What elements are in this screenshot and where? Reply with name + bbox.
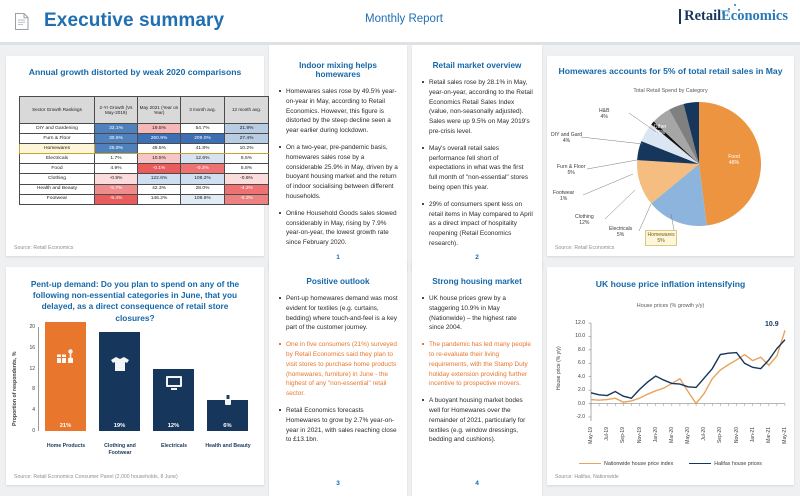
legend-entry: Halifax house prices [689, 461, 762, 467]
bar-y-axis-label: Proportion of respondents, % [12, 339, 18, 439]
line-y-tick: 0.0 [565, 401, 585, 407]
bar-column: 21%Home Products [45, 327, 86, 431]
bullet-item: 29% of consumers spent less on retail it… [421, 200, 533, 249]
line-chart-stage: House price (% y/y) -2.00.02.04.06.08.01… [547, 297, 794, 457]
pie-label-name: Clothing [575, 214, 594, 220]
line-x-tick: Jul-20 [701, 427, 707, 441]
bar-rect: 21% [45, 322, 86, 431]
home-products-icon [56, 349, 76, 372]
pie-label-value: 5% [567, 170, 574, 176]
bullet-item: May's overall retail sales performance f… [421, 144, 533, 193]
line-y-tick: 6.0 [565, 360, 585, 366]
bullet-item: One in five consumers (21%) surveyed by … [278, 340, 398, 399]
pie-chart-stage: Food48%Other16%Clothing12%Electricals5%H… [547, 90, 794, 240]
pie-slice-label: DIY and Gard4% [551, 132, 582, 145]
col-sector: Sector Growth Rankings [20, 97, 95, 124]
pie-label-value: 16% [655, 130, 665, 136]
pie-slice-label: Furn & Floor5% [557, 164, 585, 177]
bar-value-label: 21% [45, 423, 86, 429]
line-chart-title: UK house price inflation intensifying [547, 267, 794, 291]
cell-may: 49.5% [138, 144, 181, 154]
cell-three-month: 209.0% [181, 134, 225, 144]
bar-y-tick: 16 [29, 345, 35, 351]
cell-three-month: 54.7% [181, 124, 225, 134]
table-source: Source: Retail Economics [14, 245, 73, 251]
tshirt-icon [110, 355, 130, 378]
strong-housing-title: Strong housing market [421, 277, 533, 286]
line-source: Source: Halifax, Nationwide [555, 474, 619, 480]
bullet-item: Online Household Goods sales slowed cons… [278, 209, 398, 248]
pie-label-name: Furn & Floor [557, 164, 585, 170]
cell-two-year: 4.9% [95, 164, 138, 174]
bullet-item: On a two-year, pre-pandemic basis, homew… [278, 143, 398, 202]
pie-leader-line [581, 137, 643, 144]
row-sector-label: Homewares [20, 144, 95, 154]
cell-twelve-month: 6.5% [225, 154, 269, 164]
cell-two-year: 30.6% [95, 134, 138, 144]
bullet-item: Retail Economics forecasts Homewares to … [278, 406, 398, 445]
line-series [591, 340, 785, 398]
bar-y-tick: 4 [32, 407, 35, 413]
bar-y-ticks: 048121620 [23, 327, 37, 431]
col-3mo: 3 month avg. [181, 97, 225, 124]
bottle-icon [221, 388, 235, 411]
bar-category-label: Health and Beauty [200, 443, 256, 450]
pie-slice-label: Electricals5% [609, 226, 632, 239]
table-row: Homewares25.9%49.5%41.8%10.2% [20, 144, 269, 154]
bar-chart-title: Pent-up demand: Do you plan to spend on … [6, 267, 264, 324]
legend-label: Nationwide house price index [604, 461, 673, 467]
positive-outlook-bullets: Pent-up homewares demand was most eviden… [278, 294, 398, 445]
bar-column: 12%Electricals [153, 327, 194, 431]
bar-chart-card: Pent-up demand: Do you plan to spend on … [6, 267, 264, 485]
bullet-item: UK house prices grew by a staggering 10.… [421, 294, 533, 333]
table-row: Furn & Floor30.6%260.9%209.0%27.4% [20, 134, 269, 144]
pie-label-value: 1% [560, 196, 567, 202]
pie-leader-line [587, 160, 637, 169]
bullet-item: Pent-up homewares demand was most eviden… [278, 294, 398, 333]
pie-label-name: Homewares [648, 232, 675, 238]
pie-leader-line [639, 204, 651, 231]
retail-economics-logo: RetailEconomics [679, 8, 788, 24]
legend-label: Halifax house prices [714, 461, 762, 467]
cell-may: 122.6% [138, 174, 181, 184]
indoor-mixing-bullets: Homewares sales rose by 49.5% year-on-ye… [278, 87, 398, 248]
cell-twelve-month: -4.2% [225, 184, 269, 194]
cell-may: 260.9% [138, 134, 181, 144]
cell-two-year: -0.5% [95, 174, 138, 184]
line-series [591, 330, 785, 403]
page-number-4: 4 [412, 480, 542, 487]
row-sector-label: Clothing [20, 174, 95, 184]
cell-twelve-month: -5.3% [225, 194, 269, 204]
bar-value-label: 6% [207, 423, 248, 429]
line-x-tick: Jan-20 [653, 427, 659, 442]
cell-twelve-month: 5.8% [225, 164, 269, 174]
table-row: Food4.9%-0.1%-0.2%5.8% [20, 164, 269, 174]
sector-growth-table-wrap: Sector Growth Rankings 2-Yr Growth (Vs M… [19, 96, 253, 205]
pie-chart-card: Homewares accounts for 5% of total retai… [547, 56, 794, 256]
logo-dots [708, 4, 748, 16]
bar-source: Source: Retail Economics Consumer Panel … [14, 474, 178, 480]
row-sector-label: DIY and Gardening [20, 124, 95, 134]
cell-twelve-month: 10.2% [225, 144, 269, 154]
col-may: May 2021 (Year on Year) [138, 97, 181, 124]
pie-label-value: 12% [579, 220, 589, 226]
table-header-row: Sector Growth Rankings 2-Yr Growth (Vs M… [20, 97, 269, 124]
line-x-tick: Nov-19 [637, 427, 643, 443]
pie-label-value: 4% [601, 114, 608, 120]
cell-may: 19.5% [138, 124, 181, 134]
legend-swatch [689, 463, 711, 465]
line-x-tick: Mar-21 [766, 427, 772, 443]
pie-chart-title: Homewares accounts for 5% of total retai… [547, 56, 794, 78]
row-sector-label: Footwear [20, 194, 95, 204]
row-sector-label: Electricals [20, 154, 95, 164]
row-sector-label: Furn & Floor [20, 134, 95, 144]
cell-may: 42.3% [138, 184, 181, 194]
line-y-tick: -2.0 [565, 414, 585, 420]
retail-overview-title: Retail market overview [421, 61, 533, 70]
line-x-tick: Mar-20 [669, 427, 675, 443]
sector-growth-title: Annual growth distorted by weak 2020 com… [6, 56, 264, 79]
bullet-item: Retail sales rose by 28.1% in May, year-… [421, 78, 533, 137]
report-subtitle: Monthly Report [365, 13, 443, 25]
line-y-tick: 12.0 [565, 320, 585, 326]
bar-chart-plot: 21%Home Products19%Clothing and Footwear… [39, 327, 255, 431]
pie-label-name: Food [728, 154, 740, 160]
table-row: Clothing-0.5%122.6%108.2%-0.6% [20, 174, 269, 184]
cell-three-month: 12.6% [181, 154, 225, 164]
line-y-tick: 10.0 [565, 333, 585, 339]
pie-leader-line [583, 174, 633, 195]
pie-label-name: H&B [599, 108, 609, 114]
line-x-tick: May-19 [588, 427, 594, 444]
bar-category-label: Home Products [38, 443, 94, 450]
positive-outlook-title: Positive outlook [278, 277, 398, 286]
bar-rect: 12% [153, 369, 194, 431]
strong-housing-card: Strong housing market UK house prices gr… [412, 261, 542, 496]
legend-swatch [579, 463, 601, 465]
pie-label-name: Electricals [609, 226, 632, 232]
bar-y-tick: 8 [32, 386, 35, 392]
line-y-tick: 2.0 [565, 387, 585, 393]
line-chart-card: UK house price inflation intensifying Ho… [547, 267, 794, 485]
page-number-3: 3 [269, 480, 407, 487]
col-12mo: 12 month avg. [225, 97, 269, 124]
pie-slice-label: H&B4% [599, 108, 609, 121]
page-number-2: 2 [412, 254, 542, 261]
bar-y-tick: 12 [29, 366, 35, 372]
bar-column: 6%Health and Beauty [207, 327, 248, 431]
col-two-year: 2-Yr Growth (Vs May-2019) [95, 97, 138, 124]
pie-label-value: 5% [657, 238, 664, 244]
pie-label-name: Footwear [553, 190, 574, 196]
cell-two-year: 33.1% [95, 124, 138, 134]
bar-y-tick: 0 [32, 428, 35, 434]
cell-three-month: 28.0% [181, 184, 225, 194]
monitor-icon [164, 375, 184, 396]
sector-growth-table: Sector Growth Rankings 2-Yr Growth (Vs M… [19, 96, 269, 205]
bar-value-label: 12% [153, 423, 194, 429]
line-y-tick: 4.0 [565, 374, 585, 380]
table-row: Health and Beauty-5.7%42.3%28.0%-4.2% [20, 184, 269, 194]
pie-slice-label: Homewares5% [645, 230, 677, 246]
dashboard-grid: Annual growth distorted by weak 2020 com… [0, 45, 800, 496]
table-row: Footwear-9.4%146.2%108.6%-5.3% [20, 194, 269, 204]
cell-three-month: 108.2% [181, 174, 225, 184]
pie-label-name: Other [654, 124, 667, 130]
pie-label-value: 5% [617, 232, 624, 238]
bar-chart-stage: Proportion of respondents, % 048121620 2… [6, 319, 264, 459]
page-number-1: 1 [269, 254, 407, 261]
pie-slice-label: Food48% [717, 154, 751, 167]
indoor-mixing-card: Indoor mixing helps homewares Homewares … [269, 45, 407, 270]
bullet-item: The pandemic has led many people to re-e… [421, 340, 533, 389]
line-y-tick: 8.0 [565, 347, 585, 353]
retail-overview-bullets: Retail sales rose by 28.1% in May, year-… [421, 78, 533, 249]
bar-category-label: Electricals [146, 443, 202, 450]
pie-label-value: 4% [563, 138, 570, 144]
cell-twelve-month: 21.9% [225, 124, 269, 134]
cell-three-month: -0.2% [181, 164, 225, 174]
table-row: DIY and Gardening33.1%19.5%54.7%21.9% [20, 124, 269, 134]
line-chart-legend: Nationwide house price indexHalifax hous… [547, 461, 794, 467]
bullet-item: Homewares sales rose by 49.5% year-on-ye… [278, 87, 398, 136]
cell-three-month: 41.8% [181, 144, 225, 154]
pie-slice-label: Other16% [643, 124, 677, 137]
bar-value-label: 19% [99, 423, 140, 429]
cell-may: -0.1% [138, 164, 181, 174]
bar-y-tick: 20 [29, 324, 35, 330]
cell-twelve-month: 27.4% [225, 134, 269, 144]
bar-category-label: Clothing and Footwear [92, 443, 148, 457]
table-row: Electricals1.7%10.5%12.6%6.5% [20, 154, 269, 164]
row-sector-label: Food [20, 164, 95, 174]
cell-two-year: -5.7% [95, 184, 138, 194]
page-title: Executive summary [44, 10, 224, 32]
pie-leader-line [605, 190, 635, 219]
line-x-tick: May-21 [782, 427, 788, 444]
pie-slice-label: Footwear1% [553, 190, 574, 203]
sector-growth-card: Annual growth distorted by weak 2020 com… [6, 56, 264, 256]
bullet-item: A buoyant housing market bodes well for … [421, 396, 533, 445]
cell-twelve-month: -0.6% [225, 174, 269, 184]
row-sector-label: Health and Beauty [20, 184, 95, 194]
line-x-tick: Jan-21 [750, 427, 756, 442]
cell-may: 10.5% [138, 154, 181, 164]
pie-source: Source: Retail Economics [555, 245, 614, 251]
pie-slice-label: Clothing12% [575, 214, 594, 227]
line-y-axis-label: House price (% y/y) [556, 325, 562, 411]
retail-overview-card: Retail market overview Retail sales rose… [412, 45, 542, 270]
bar-column: 19%Clothing and Footwear [99, 327, 140, 431]
line-x-tick: Nov-20 [734, 427, 740, 443]
pie-label-value: 48% [729, 160, 739, 166]
cell-two-year: 25.9% [95, 144, 138, 154]
cell-two-year: -9.4% [95, 194, 138, 204]
strong-housing-bullets: UK house prices grew by a staggering 10.… [421, 294, 533, 445]
sector-growth-body: DIY and Gardening33.1%19.5%54.7%21.9%Fur… [20, 124, 269, 205]
bar-rect: 6% [207, 400, 248, 431]
cell-three-month: 108.6% [181, 194, 225, 204]
line-x-tick: Sep-19 [620, 427, 626, 443]
line-x-tick: Sep-20 [717, 427, 723, 443]
bar-rect: 19% [99, 332, 140, 431]
positive-outlook-card: Positive outlook Pent-up homewares deman… [269, 261, 407, 496]
line-annotation: 10.9 [765, 321, 779, 328]
pie-label-name: DIY and Gard [551, 132, 582, 138]
cell-may: 146.2% [138, 194, 181, 204]
line-x-tick: May-20 [685, 427, 691, 444]
cell-two-year: 1.7% [95, 154, 138, 164]
document-icon [14, 12, 30, 31]
indoor-mixing-title: Indoor mixing helps homewares [278, 61, 398, 79]
line-x-tick: Jul-19 [604, 427, 610, 441]
page-header: Executive summary Monthly Report RetailE… [0, 0, 800, 42]
legend-entry: Nationwide house price index [579, 461, 673, 467]
